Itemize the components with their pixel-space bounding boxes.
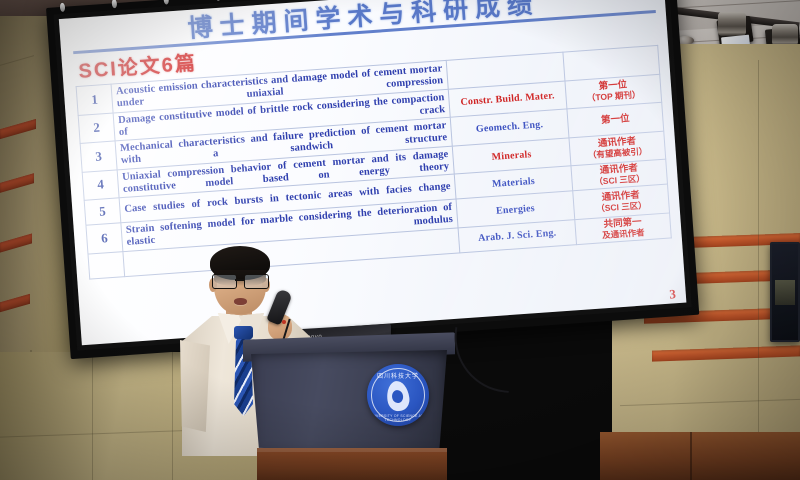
lectern-wooden-base [257, 448, 447, 480]
row-number: 3 [80, 141, 117, 172]
author-role-note: （有望高被引） [574, 146, 660, 162]
row-number: 4 [82, 170, 119, 201]
lectern: 四川科技大学 UNIVERSITY OF SCIENCE AND TECHNOL… [243, 336, 455, 480]
emblem-chinese-name: 四川科技大学 [367, 371, 429, 380]
lecture-hall-photo: 博士期间学术与科研成绩 SCI论文6篇 1 Acoustic emission … [0, 0, 800, 480]
author-role-note: （SCI 三区） [578, 200, 664, 216]
university-emblem: 四川科技大学 UNIVERSITY OF SCIENCE AND TECHNOL… [367, 364, 429, 426]
publications-table: 1 Acoustic emission characteristics and … [76, 45, 672, 280]
right-wood-panel-seam [690, 432, 692, 480]
author-role-main: 第一位 [601, 113, 630, 126]
stage-light-barrel-2 [718, 12, 746, 36]
right-wood-panel [600, 432, 800, 480]
right-wall-joint-v [758, 60, 759, 480]
slide-page-number: 3 [669, 286, 677, 302]
eyeglass-lens-right [244, 274, 269, 289]
screen-clip [60, 3, 66, 12]
speaker-mouth [234, 298, 247, 305]
row-number: 2 [78, 113, 115, 144]
microphone-indicator-light [282, 320, 286, 324]
speaker-arm-left [180, 340, 210, 432]
author-role-note [568, 60, 654, 66]
eyeglass-bridge [235, 279, 244, 281]
wall-monitor-screen-glow [775, 280, 795, 305]
screen-clip [215, 0, 221, 1]
author-role-note: （TOP 期刊） [570, 89, 656, 105]
wall-monitor[interactable] [770, 242, 800, 342]
projection-screen-frame: 博士期间学术与科研成绩 SCI论文6篇 1 Acoustic emission … [46, 0, 699, 359]
publications-table-body: 1 Acoustic emission characteristics and … [76, 46, 671, 279]
eyeglass-lens-left [212, 274, 237, 289]
screen-clip [163, 0, 169, 5]
stage-light-barrel-3 [772, 24, 798, 46]
author-role: 共同第一 及通讯作者 [575, 213, 672, 245]
eyeglasses-icon [212, 274, 270, 288]
row-number [88, 252, 125, 280]
emblem-english-name: UNIVERSITY OF SCIENCE AND TECHNOLOGY [367, 414, 429, 422]
projection-screen-surface: 博士期间学术与科研成绩 SCI论文6篇 1 Acoustic emission … [59, 0, 687, 345]
presentation-slide: 博士期间学术与科研成绩 SCI论文6篇 1 Acoustic emission … [59, 0, 687, 345]
row-number: 1 [76, 84, 113, 115]
author-role-note: 及通讯作者 [580, 226, 666, 242]
gooseneck-microphone[interactable] [449, 327, 515, 393]
screen-clip [112, 0, 118, 8]
row-number: 6 [86, 223, 123, 254]
lower-wall-joint-1 [92, 352, 93, 480]
lower-wall-joint-2 [172, 352, 173, 480]
row-number: 5 [84, 198, 121, 226]
